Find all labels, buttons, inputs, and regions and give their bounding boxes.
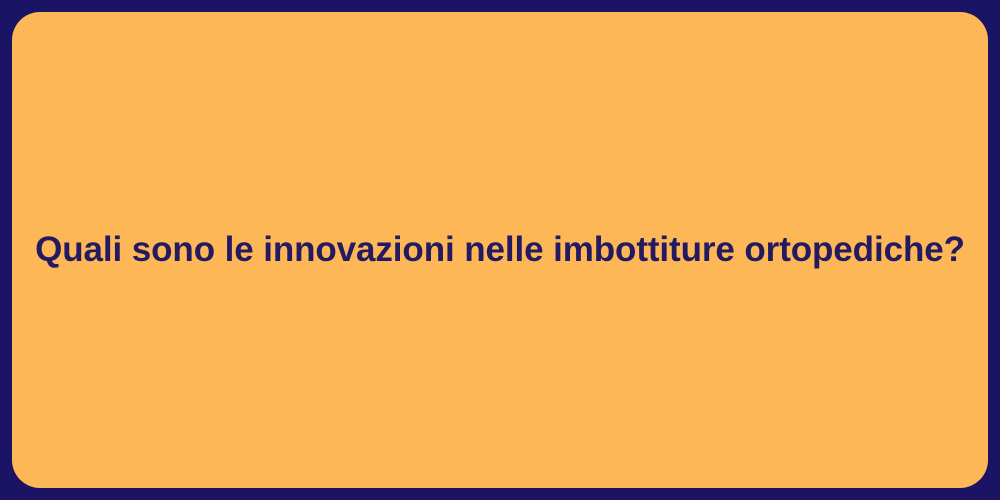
question-card: Quali sono le innovazioni nelle imbottit… — [12, 12, 988, 488]
page-frame: Quali sono le innovazioni nelle imbottit… — [0, 0, 1000, 500]
question-heading: Quali sono le innovazioni nelle imbottit… — [35, 228, 965, 272]
